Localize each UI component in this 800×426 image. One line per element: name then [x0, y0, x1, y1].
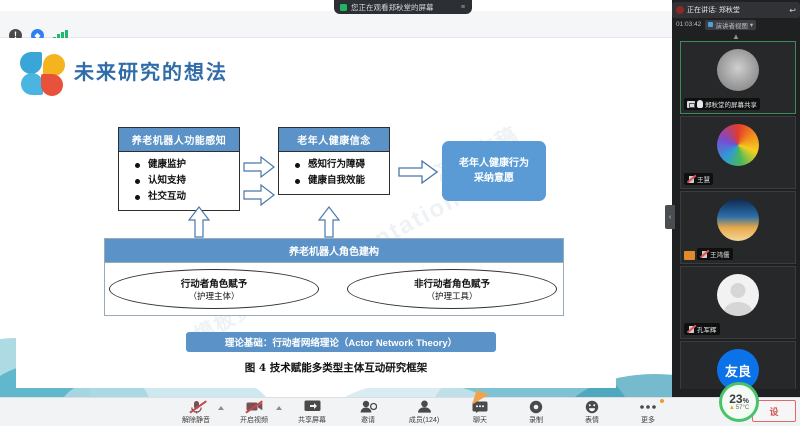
shared-screen-stage[interactable]: ! ◆ 未来研究的想法 演示文稿 Presentation 模板资源 — [0, 0, 672, 397]
chevron-down-icon: ▾ — [750, 21, 753, 29]
toolbar-label: 解除静音 — [182, 415, 210, 425]
battery-ring: 23% ▲57°C — [719, 382, 759, 422]
notification-badge — [660, 399, 664, 403]
participants-icon — [417, 400, 432, 414]
toolbar-label: 共享屏幕 — [298, 415, 326, 425]
ellipse-title: 行动者角色赋予 — [181, 276, 248, 290]
toolbar-label: 邀请 — [361, 415, 375, 425]
participant-tile-list[interactable]: 郑秋堂的屏幕共享 王慧 王鸿儒 — [680, 41, 796, 389]
elapsed-time: 01:03:42 — [676, 21, 701, 28]
toolbar-buttons: 解除静音 开启视频 共享屏幕 邀请 — [168, 400, 676, 425]
share-active-indicator-icon — [340, 4, 347, 11]
avatar — [717, 49, 759, 91]
ellipse-title: 非行动者角色赋予 — [414, 276, 490, 290]
battery-percent: 23% — [729, 393, 749, 405]
ellipse-subtitle: （护理工具） — [426, 290, 477, 302]
block-arrow-up-icon — [318, 206, 340, 238]
participant-name-chip: 郑秋堂的屏幕共享 — [684, 98, 760, 110]
toolbar-button-invite[interactable]: 邀请 — [340, 400, 396, 425]
ellipse-subtitle: （护理主体） — [188, 290, 239, 302]
participant-tile[interactable]: 孔军辉 — [680, 266, 796, 339]
outcome-line-2: 采纳意愿 — [459, 171, 529, 186]
toolbar-button-more[interactable]: 更多 — [620, 400, 676, 425]
participant-name-chip: 王鸿儒 — [697, 248, 733, 260]
participant-tile-screen-share[interactable]: 郑秋堂的屏幕共享 — [680, 41, 796, 114]
screen-share-banner[interactable]: 您正在观看郑秋堂的屏幕 ≡ — [334, 0, 472, 14]
share-banner-text: 您正在观看郑秋堂的屏幕 — [351, 2, 434, 13]
view-mode-selector[interactable]: 演讲者视图 ▾ — [705, 20, 756, 30]
outcome-line-1: 老年人健康行为 — [459, 156, 529, 171]
toolbar-button-emoji[interactable]: 表情 — [564, 400, 620, 425]
toolbar-button-share-screen[interactable]: 共享屏幕 — [284, 400, 340, 425]
toolbar-label: 开启视频 — [240, 415, 268, 425]
meeting-window: ! ◆ 未来研究的想法 演示文稿 Presentation 模板资源 — [0, 0, 800, 426]
outcome-box-adoption-intention: 老年人健康行为 采纳意愿 — [442, 141, 546, 201]
box-header: 养老机器人功能感知 — [119, 128, 239, 152]
toolbar-label: 聊天 — [473, 415, 487, 425]
participant-name-chip: 孔军辉 — [684, 323, 720, 335]
toolbar-button-record[interactable]: 录制 — [508, 400, 564, 425]
mic-muted-icon — [687, 325, 695, 333]
screen-share-icon — [687, 101, 695, 108]
participant-name: 王慧 — [697, 174, 710, 184]
active-speaker-name: 正在讲话: 郑秋堂 — [687, 5, 740, 15]
participant-name: 郑秋堂的屏幕共享 — [705, 99, 757, 109]
ellipse-nonactor-role: 非行动者角色赋予 （护理工具） — [347, 269, 557, 309]
back-arrow-icon[interactable]: ↩ — [789, 6, 796, 15]
box-item-list: 感知行为障碍 健康自我效能 — [279, 152, 389, 194]
role-construction-band: 养老机器人角色建构 行动者角色赋予 （护理主体） 非行动者角色赋予 （护理工具） — [104, 238, 564, 316]
block-arrow-up-icon — [188, 206, 210, 238]
mic-muted-icon — [190, 400, 203, 414]
box-header: 老年人健康信念 — [279, 128, 389, 152]
theory-basis-bar: 理论基础：行动者网络理论（Actor Network Theory） — [186, 332, 496, 352]
browser-toolbar: ! ◆ — [0, 11, 672, 38]
mic-muted-icon — [700, 250, 708, 258]
emoji-icon — [585, 400, 599, 414]
screen-share-icon — [304, 400, 321, 414]
toolbar-button-start-video[interactable]: 开启视频 — [226, 400, 282, 425]
slide-title: 未来研究的想法 — [74, 56, 228, 85]
participant-name-chip: 王慧 — [684, 173, 713, 185]
mic-muted-icon — [676, 6, 684, 14]
list-item: 健康自我效能 — [295, 173, 389, 189]
avatar — [717, 199, 759, 241]
four-petal-flower-logo — [20, 52, 66, 96]
ellipse-actor-role: 行动者角色赋予 （护理主体） — [109, 269, 319, 309]
system-status-overlay[interactable]: 23% ▲57°C — [716, 382, 762, 422]
flame-icon: ▲ — [729, 405, 735, 411]
block-arrow-right-icon — [243, 156, 275, 178]
avatar — [717, 124, 759, 166]
list-item: 感知行为障碍 — [295, 157, 389, 173]
invite-person-icon — [360, 400, 377, 414]
toolbar-label: 成员(124) — [409, 415, 439, 425]
participant-tile[interactable]: 王慧 — [680, 116, 796, 189]
avatar — [717, 274, 759, 316]
participant-tile[interactable]: 王鸿儒 — [680, 191, 796, 264]
temperature-readout: ▲57°C — [729, 405, 749, 411]
band-body: 行动者角色赋予 （护理主体） 非行动者角色赋予 （护理工具） — [105, 263, 563, 315]
toolbar-label: 录制 — [529, 415, 543, 425]
concept-box-health-belief: 老年人健康信念 感知行为障碍 健康自我效能 — [278, 127, 390, 195]
band-header: 养老机器人角色建构 — [105, 239, 563, 263]
participant-name: 孔军辉 — [697, 324, 717, 334]
participants-panel: ‹ 正在讲话: 郑秋堂 ↩ 01:03:42 演讲者视图 ▾ ▲ 郑秋堂的屏幕共… — [672, 0, 800, 397]
figure-caption: 图 4 技术赋能多类型主体互动研究框架 — [0, 360, 672, 375]
host-badge — [684, 251, 695, 260]
scroll-up-button[interactable]: ▲ — [672, 31, 800, 41]
panel-collapse-handle[interactable]: ‹ — [665, 205, 675, 229]
toolbar-label: 表情 — [585, 415, 599, 425]
participant-name: 王鸿儒 — [710, 249, 730, 259]
concept-box-robot-function: 养老机器人功能感知 健康监护 认知支持 社交互动 — [118, 127, 240, 211]
record-icon — [529, 400, 543, 414]
block-arrow-right-icon — [398, 160, 438, 184]
hamburger-icon[interactable]: ≡ — [461, 4, 466, 11]
list-item: 健康监护 — [135, 157, 239, 173]
layout-icon — [708, 22, 713, 27]
block-arrow-right-icon — [243, 184, 275, 206]
toolbar-button-unmute[interactable]: 解除静音 — [168, 400, 224, 425]
presentation-slide: 未来研究的想法 演示文稿 Presentation 模板资源 养老机器人功能感知… — [0, 38, 672, 397]
ellipsis-icon — [639, 400, 657, 414]
toolbar-label: 更多 — [641, 415, 655, 425]
avatar-initials: 友良 — [725, 361, 751, 380]
mic-muted-icon — [687, 175, 695, 183]
box-item-list: 健康监护 认知支持 社交互动 — [119, 152, 239, 210]
active-speaker-bar: 正在讲话: 郑秋堂 ↩ — [672, 2, 800, 18]
mic-icon — [697, 100, 703, 108]
list-item: 认知支持 — [135, 173, 239, 189]
view-mode-label: 演讲者视图 — [715, 20, 748, 30]
meeting-meta-row: 01:03:42 演讲者视图 ▾ — [672, 19, 800, 30]
list-item: 社交互动 — [135, 189, 239, 205]
camera-off-icon — [246, 400, 263, 414]
meeting-toolbar: 解除静音 开启视频 共享屏幕 邀请 — [0, 397, 800, 426]
toolbar-button-participants[interactable]: 成员(124) — [396, 400, 452, 425]
